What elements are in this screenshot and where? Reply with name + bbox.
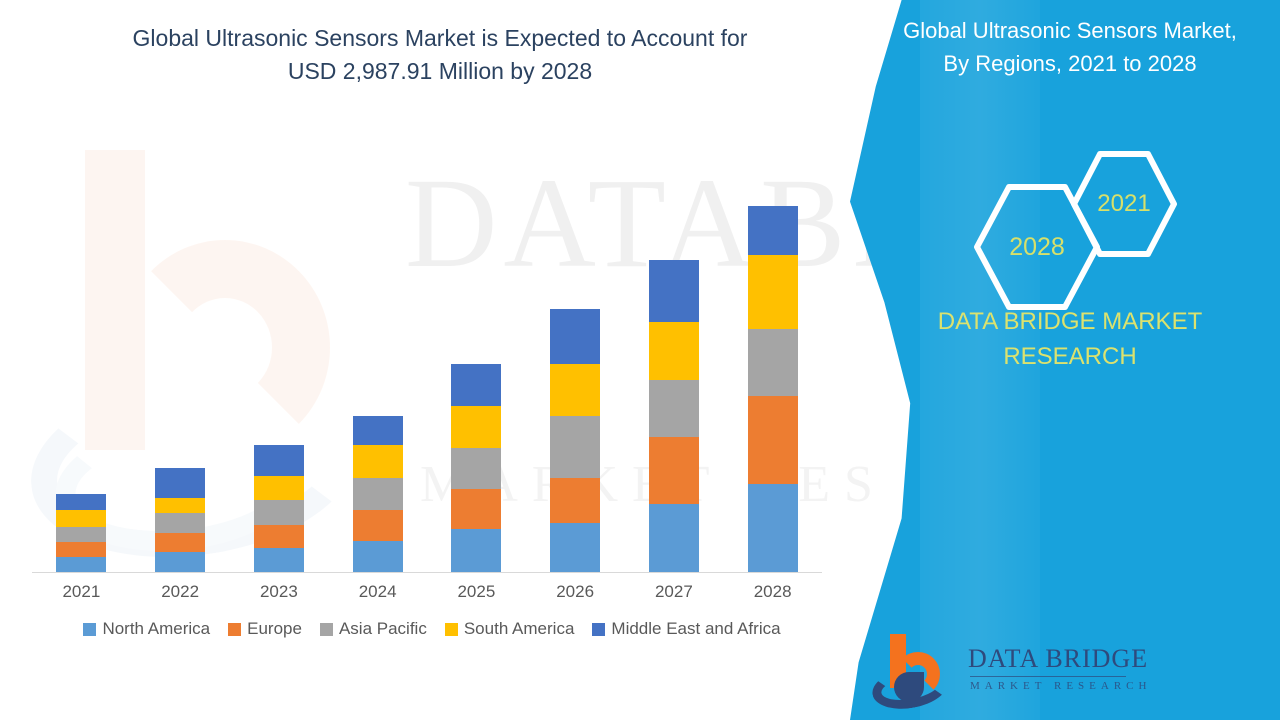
legend-swatch-icon (592, 623, 605, 636)
x-axis-label: 2021 (32, 582, 131, 602)
stacked-bar (353, 416, 403, 573)
chart-title-line-1: Global Ultrasonic Sensors Market is Expe… (60, 22, 820, 55)
bar-segment (649, 437, 699, 504)
bar-group (625, 130, 724, 573)
bar-segment (56, 527, 106, 542)
legend-item[interactable]: South America (445, 619, 575, 639)
bar-segment (649, 380, 699, 437)
bar-segment (550, 309, 600, 364)
bar-segment (155, 468, 205, 499)
bar-segment (649, 504, 699, 573)
hexagon-end-year-label: 2028 (1009, 233, 1065, 262)
logo-tagline: MARKET RESEARCH (970, 680, 1151, 692)
bar-segment (353, 445, 403, 477)
legend-item[interactable]: Middle East and Africa (592, 619, 780, 639)
bar-segment (254, 445, 304, 476)
legend-label: South America (464, 619, 575, 639)
bar-segment (155, 498, 205, 513)
bar-group (723, 130, 822, 573)
brand-name: DATA BRIDGE MARKET RESEARCH (860, 305, 1280, 375)
bar-segment (254, 548, 304, 573)
stacked-bar (550, 309, 600, 573)
bar-segment (155, 533, 205, 553)
bar-segment (451, 406, 501, 448)
bar-segment (748, 484, 798, 573)
legend-swatch-icon (320, 623, 333, 636)
legend-label: Asia Pacific (339, 619, 427, 639)
hexagon-badge-end-year: 2028 (970, 180, 1104, 314)
bar-segment (748, 329, 798, 396)
brand-panel: Global Ultrasonic Sensors Market, By Reg… (850, 0, 1280, 720)
stacked-bar (451, 364, 501, 573)
legend-label: Europe (247, 619, 302, 639)
legend-item[interactable]: Asia Pacific (320, 619, 427, 639)
legend-item[interactable]: North America (83, 619, 210, 639)
legend-label: Middle East and Africa (611, 619, 780, 639)
brand-name-line-1: DATA BRIDGE MARKET (860, 305, 1280, 340)
bar-segment (353, 541, 403, 573)
bar-segment (155, 552, 205, 573)
legend-item[interactable]: Europe (228, 619, 302, 639)
bar-group (427, 130, 526, 573)
legend-swatch-icon (228, 623, 241, 636)
bar-segment (550, 523, 600, 573)
hexagon-start-year-label: 2021 (1097, 190, 1150, 218)
stacked-bar (254, 445, 304, 573)
brand-panel-title: Global Ultrasonic Sensors Market, By Reg… (870, 14, 1270, 80)
bar-group (131, 130, 230, 573)
bar-segment (748, 255, 798, 329)
bar-segment (353, 510, 403, 541)
bar-segment (254, 500, 304, 525)
bar-segment (254, 525, 304, 549)
bar-segment (56, 557, 106, 573)
x-axis-line (32, 572, 822, 573)
logo-divider (970, 676, 1126, 677)
logo-wordmark: DATA BRIDGE (968, 644, 1148, 674)
brand-title-line-2: By Regions, 2021 to 2028 (870, 47, 1270, 80)
bar-group (526, 130, 625, 573)
logo-swoosh-fill (894, 672, 924, 702)
stacked-bar (649, 260, 699, 573)
brand-name-line-2: RESEARCH (860, 340, 1280, 375)
chart-legend: North AmericaEuropeAsia PacificSouth Ame… (32, 616, 832, 642)
bar-segment (451, 364, 501, 405)
chart-title-line-2: USD 2,987.91 Million by 2028 (60, 55, 820, 88)
x-axis-label: 2023 (230, 582, 329, 602)
x-axis-label: 2024 (328, 582, 427, 602)
x-axis-labels: 20212022202320242025202620272028 (32, 582, 822, 608)
x-axis-label: 2027 (625, 582, 724, 602)
bar-group (32, 130, 131, 573)
logo-mark-icon (872, 632, 958, 708)
bar-segment (56, 542, 106, 558)
legend-label: North America (102, 619, 210, 639)
bar-segment (550, 478, 600, 523)
brand-title-line-1: Global Ultrasonic Sensors Market, (870, 14, 1270, 47)
bar-segment (550, 416, 600, 477)
bar-segment (451, 489, 501, 528)
bar-segment (353, 416, 403, 445)
bar-segment (451, 448, 501, 489)
x-axis-label: 2028 (723, 582, 822, 602)
x-axis-label: 2026 (526, 582, 625, 602)
chart-panel: DATABRIDGE MARKET RESEARCH Global Ultras… (0, 0, 880, 720)
stacked-bar (56, 494, 106, 573)
bar-segment (56, 494, 106, 510)
bar-segment (451, 529, 501, 573)
bar-segment (56, 510, 106, 527)
stacked-bar (155, 468, 205, 573)
bar-segment (550, 364, 600, 416)
bar-segment (155, 513, 205, 533)
bar-segment (748, 396, 798, 485)
legend-swatch-icon (445, 623, 458, 636)
bar-segment (748, 206, 798, 255)
legend-swatch-icon (83, 623, 96, 636)
x-axis-label: 2025 (427, 582, 526, 602)
bar-segment (353, 478, 403, 510)
bar-group (328, 130, 427, 573)
bar-segment (649, 322, 699, 380)
stacked-bar (748, 206, 798, 573)
x-axis-label: 2022 (131, 582, 230, 602)
bar-segment (254, 476, 304, 501)
bar-segment (649, 260, 699, 322)
bar-group (230, 130, 329, 573)
data-bridge-logo: DATA BRIDGE MARKET RESEARCH (872, 632, 1232, 708)
plot-area (32, 130, 822, 573)
chart-title: Global Ultrasonic Sensors Market is Expe… (60, 22, 820, 87)
